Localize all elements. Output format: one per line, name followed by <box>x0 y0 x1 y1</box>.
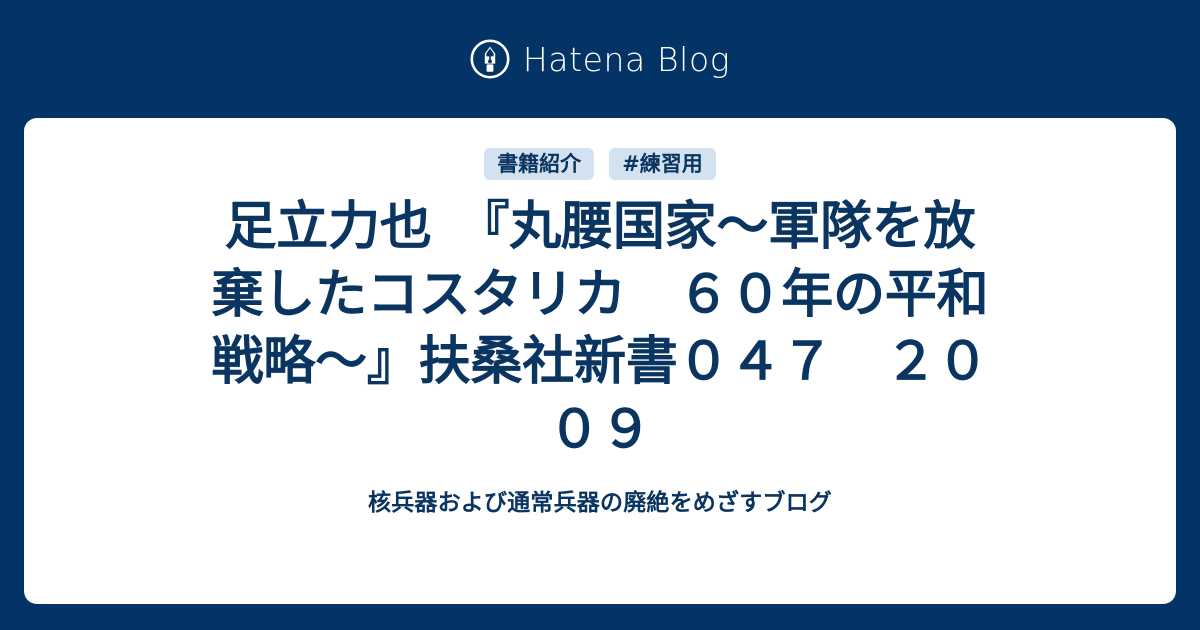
category-tag[interactable]: 書籍紹介 <box>484 148 594 180</box>
og-image-canvas: Hatena Blog 書籍紹介 #練習用 足立力也 『丸腰国家～軍隊を放棄した… <box>0 0 1200 630</box>
blog-subtitle: 核兵器および通常兵器の廃絶をめざすブログ <box>368 490 832 518</box>
hashtag-tag[interactable]: #練習用 <box>609 148 716 180</box>
brand-name: Hatena Blog <box>523 43 730 76</box>
tag-list: 書籍紹介 #練習用 <box>484 148 716 180</box>
entry-card: 書籍紹介 #練習用 足立力也 『丸腰国家～軍隊を放棄したコスタリカ ６０年の平和… <box>24 118 1176 604</box>
hatena-blog-pen-nib-icon <box>470 39 510 79</box>
brand-header: Hatena Blog <box>0 0 1200 118</box>
entry-title: 足立力也 『丸腰国家～軍隊を放棄したコスタリカ ６０年の平和戦略～』扶桑社新書０… <box>200 194 1000 464</box>
